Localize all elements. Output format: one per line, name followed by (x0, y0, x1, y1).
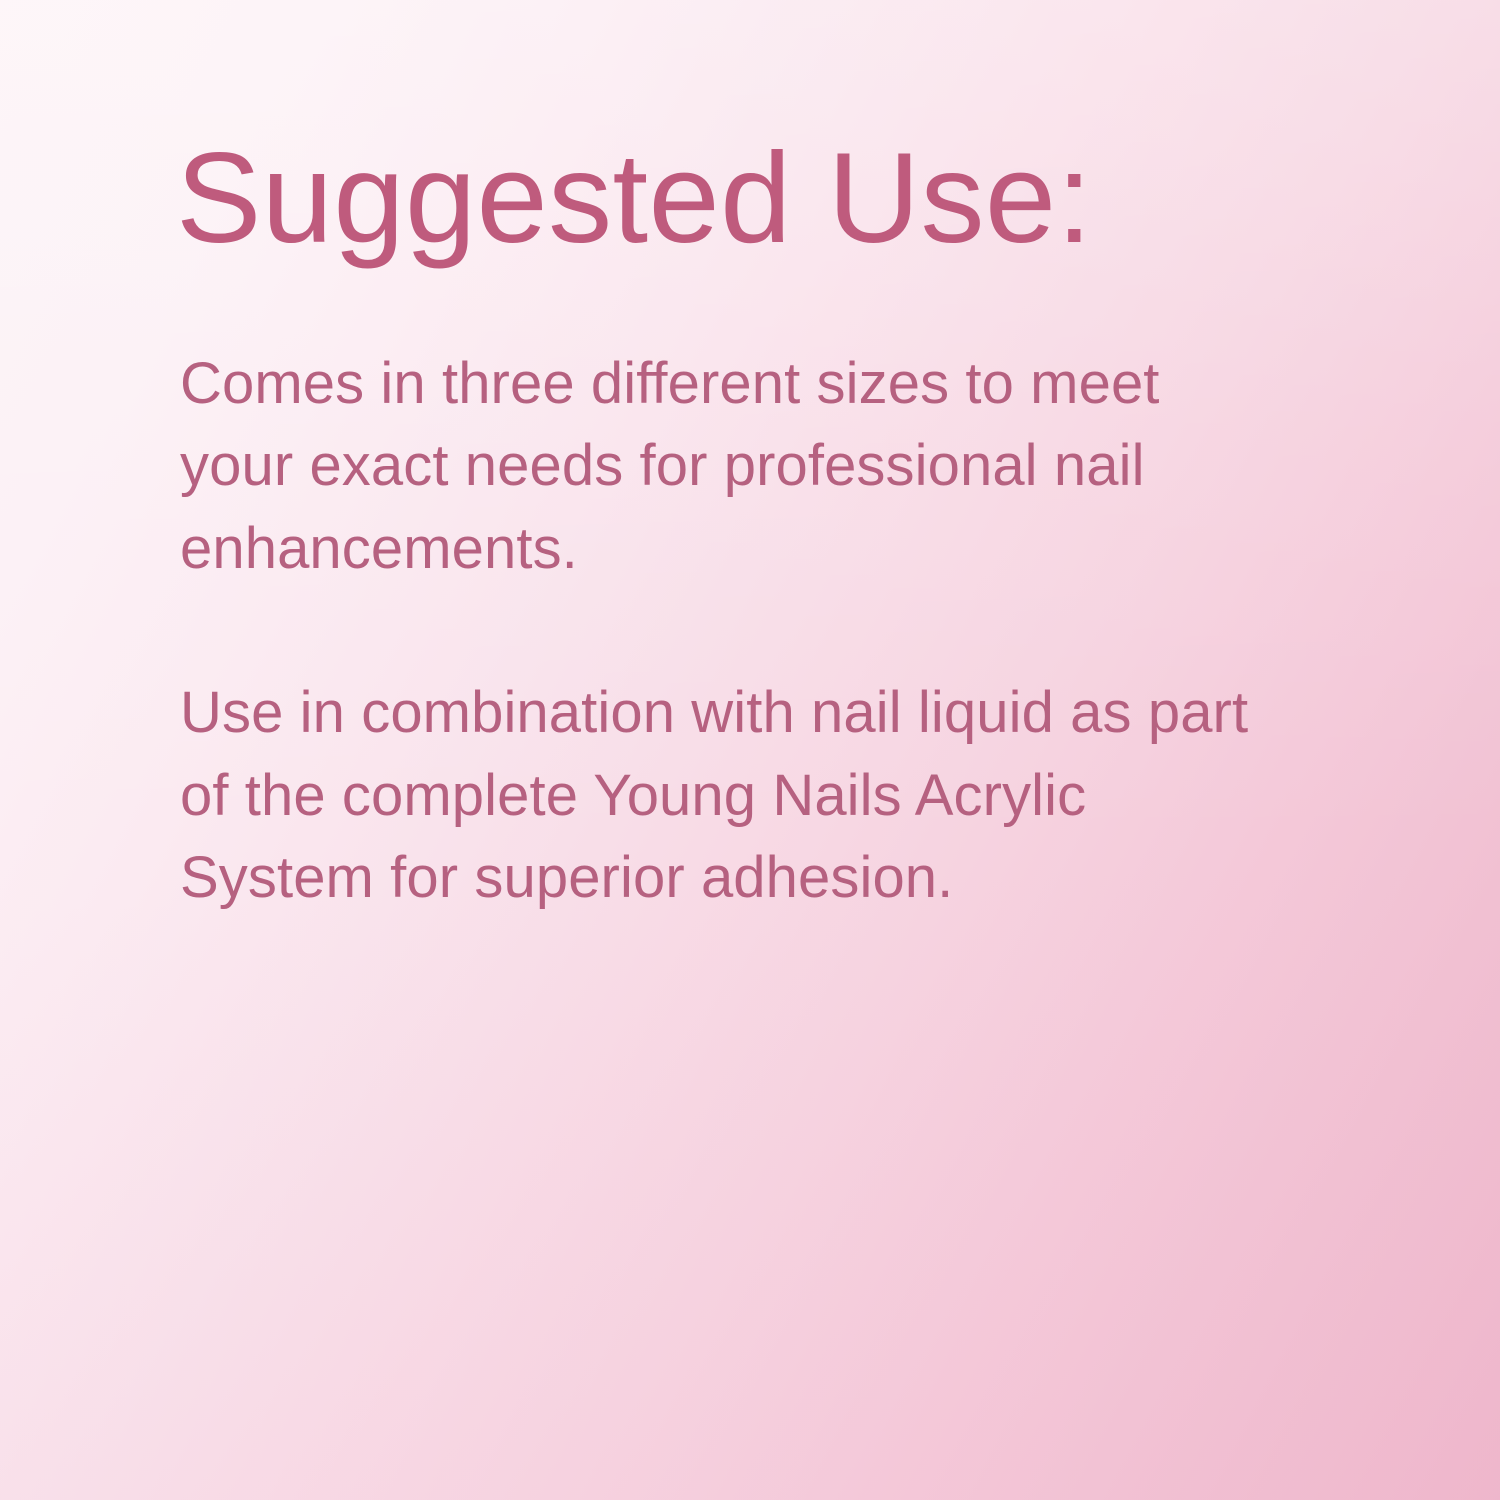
page-title: Suggested Use: (176, 132, 1300, 265)
content-column: Suggested Use: Comes in three different … (180, 132, 1300, 919)
paragraph-sizes: Comes in three different sizes to meet y… (180, 343, 1270, 590)
body-copy: Comes in three different sizes to meet y… (180, 343, 1300, 919)
paragraph-system: Use in combination with nail liquid as p… (180, 672, 1270, 919)
suggested-use-card: Suggested Use: Comes in three different … (0, 0, 1500, 1500)
